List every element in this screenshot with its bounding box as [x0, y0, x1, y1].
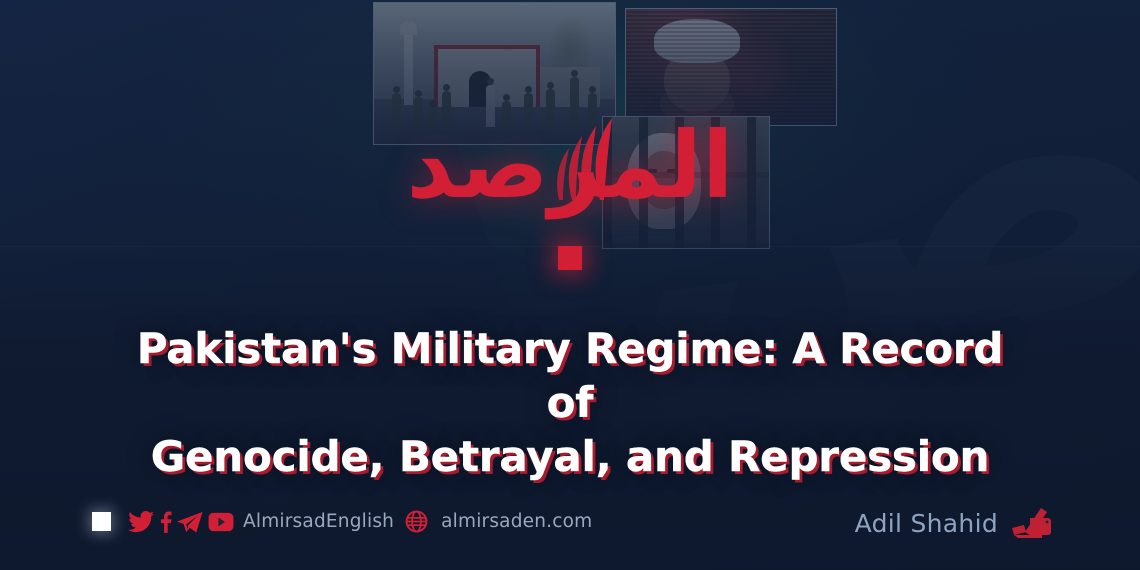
divider-line-lower	[0, 492, 1140, 493]
twitter-icon[interactable]	[128, 511, 154, 533]
page-title: Pakistan's Military Regime: A Record of …	[0, 322, 1140, 485]
headline-line-1: Pakistan's Military Regime: A Record of	[137, 324, 1003, 427]
facebook-icon[interactable]	[159, 511, 172, 533]
brand-logo: المرصد	[0, 120, 1140, 212]
white-square-bullet	[92, 512, 111, 531]
website-url[interactable]: almirsaden.com	[441, 511, 592, 532]
social-icon-group[interactable]	[128, 511, 234, 533]
telegram-icon[interactable]	[177, 511, 203, 533]
writing-hand-icon	[1008, 506, 1054, 540]
logo-square-accent	[558, 246, 582, 270]
logo-wordmark: المرصد	[406, 120, 733, 212]
globe-icon	[405, 510, 428, 533]
photo-glitch-portrait	[625, 8, 837, 126]
social-handle[interactable]: AlmirsadEnglish	[243, 511, 394, 532]
poster-canvas: ص ر م	[0, 0, 1140, 570]
footer-left-group: AlmirsadEnglish almirsaden.com	[92, 510, 592, 533]
headline-line-2: Genocide, Betrayal, and Repression	[151, 432, 990, 481]
youtube-icon[interactable]	[208, 511, 234, 533]
footer-right-group: Adil Shahid	[855, 506, 1054, 540]
author-name: Adil Shahid	[855, 509, 998, 538]
footer-bar: AlmirsadEnglish almirsaden.com Adil Shah…	[0, 496, 1140, 570]
